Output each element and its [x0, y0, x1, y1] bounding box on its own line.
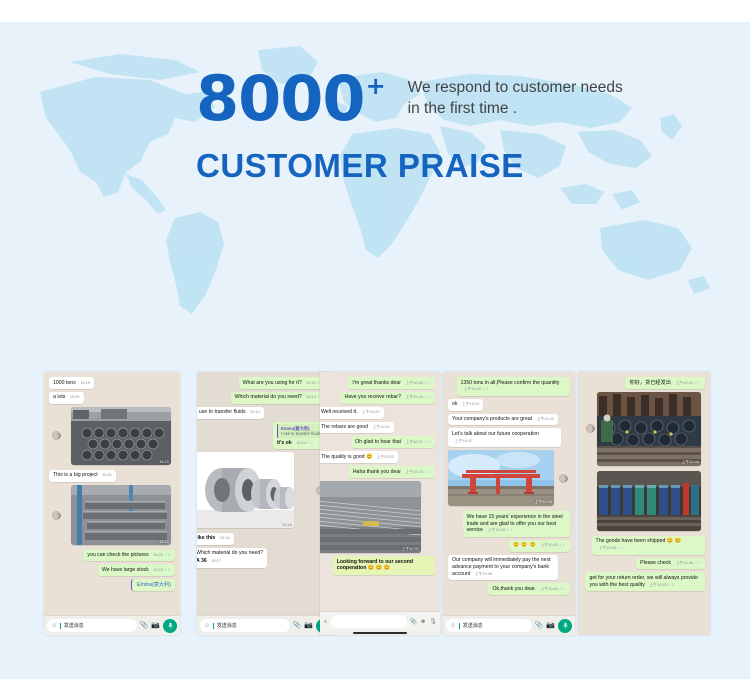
- paperclip-icon[interactable]: 📎: [293, 622, 302, 629]
- chat-panel-1: 1000 tons 15:19 a lots 15:20: [44, 372, 180, 635]
- chat-thread-5: 你好，货已经发出 上午10:41✓✓: [578, 372, 710, 635]
- message-text: We have large stock: [102, 567, 149, 573]
- message-text: What are you using for it?: [243, 380, 302, 386]
- image-message-wrapper: 上午10:44: [583, 392, 705, 468]
- chat-bubble: Ok,thank you dear. 上午10:49✓✓: [488, 583, 570, 595]
- message-text: I use to transfer fluids: [197, 409, 246, 415]
- message-input-bar[interactable]: ☺ 发送消息 📎 📷: [44, 615, 180, 635]
- chat-bubble: We have large stock 15:23✓✓: [98, 564, 175, 576]
- read-receipt-icon: ✓✓: [617, 545, 624, 550]
- chat-bubble: The quality is good 😊 上午10:22: [320, 451, 398, 463]
- message-input-field[interactable]: ☺ 发送消息: [446, 619, 532, 632]
- image-timestamp: 上午10:37: [401, 546, 419, 552]
- message-text: like this: [197, 535, 215, 541]
- paperclip-icon[interactable]: 📎: [140, 622, 149, 629]
- message-time: 15:12: [306, 380, 316, 385]
- message-text: The rebars are good: [321, 424, 368, 430]
- message-row: you can check the pictures 15:21✓✓: [49, 550, 175, 565]
- message-row: This is a big project 15:21: [49, 470, 175, 485]
- message-row: Which material do you need? A 36 15:17: [202, 548, 328, 571]
- message-text: you can check the pictures: [87, 552, 148, 558]
- rebar-bundle-photo: [320, 481, 421, 553]
- message-row: 😊 😊 😊 上午10:43✓✓: [448, 540, 570, 555]
- message-time: 上午10:49: [540, 586, 558, 591]
- read-receipt-icon: ✓✓: [164, 552, 171, 557]
- message-text: We have 15 years' experience in the stee…: [467, 514, 563, 534]
- message-time: 上午10:42: [537, 416, 555, 421]
- paperclip-icon[interactable]: 📎: [410, 619, 417, 625]
- text-caret: [459, 623, 460, 629]
- image-message-wrapper: 15:16: [202, 452, 328, 530]
- camera-icon[interactable]: 📷: [151, 622, 160, 629]
- message-text: Ok,thank you dear.: [492, 586, 536, 592]
- home-indicator: [320, 631, 440, 635]
- chat-bubble: you can check the pictures 15:21✓✓: [83, 550, 175, 562]
- message-time: 上午10:20: [362, 409, 380, 414]
- read-receipt-icon: ✓✓: [559, 542, 566, 547]
- read-receipt-icon: ✓✓: [424, 394, 431, 399]
- message-text: Oh glad to hear that: [355, 439, 401, 445]
- message-row: 1350 tons in all,Please confirm the quan…: [448, 377, 570, 399]
- message-row: Our company will immediately pay the nex…: [448, 555, 570, 584]
- forward-avatar-icon: [586, 424, 595, 433]
- message-row: I'm great thanks dear 上午10:18✓✓: [325, 377, 435, 392]
- message-row: get for your return order, we will alway…: [583, 572, 705, 594]
- image-message[interactable]: 上午10:43: [448, 450, 554, 506]
- chat-bubble: The goods have been shipped 😊 😊 上午10:46✓…: [592, 536, 705, 555]
- image-message[interactable]: 15:16: [197, 452, 294, 528]
- message-input-bar[interactable]: ☺ 发送消息 📎 📷: [443, 615, 575, 635]
- message-text: get for your return order, we will alway…: [589, 575, 697, 588]
- chat-bubble: What are you using for it? 15:12✓✓: [239, 377, 328, 389]
- emoji-icon[interactable]: ☺: [450, 623, 456, 629]
- chat-bubble: Please check 上午10:46✓✓: [636, 558, 705, 570]
- chat-panel-5: 你好，货已经发出 上午10:41✓✓: [578, 372, 710, 635]
- message-row: We have 15 years' experience in the stee…: [448, 511, 570, 540]
- message-text: I'm great thanks dear: [352, 380, 401, 386]
- message-text: Your company's products are great: [452, 416, 532, 422]
- text-caret: [60, 623, 61, 629]
- image-message-wrapper: 上午10:43: [448, 450, 570, 508]
- read-receipt-icon: ✓✓: [164, 567, 171, 572]
- chat-bubble: Oh glad to hear that 上午10:21✓✓: [351, 436, 435, 448]
- hero-headline-row: 8000 + We respond to customer needs in t…: [196, 70, 716, 129]
- message-time: 15:17: [211, 558, 221, 563]
- message-row: I use to transfer fluids 15:14: [202, 407, 328, 422]
- microphone-icon: [562, 622, 569, 629]
- message-row: We have large stock 15:23✓✓: [49, 564, 175, 579]
- coated-pipes-photo: [597, 471, 701, 531]
- chat-bubble: 😊 😊 😊 上午10:43✓✓: [509, 540, 570, 552]
- message-time: 15:16: [220, 535, 230, 540]
- image-message[interactable]: 15:21: [71, 407, 171, 465]
- message-text: Looking forward to our second cooperatio…: [337, 559, 413, 572]
- message-row: ok 上午10:42: [448, 399, 570, 414]
- quoted-reply: Emma(意大利) I use to transfer fluids: [277, 424, 324, 438]
- plus-icon[interactable]: +: [323, 618, 328, 626]
- hero-subtitle: CUSTOMER PRAISE: [196, 147, 716, 185]
- chat-bubble: 1350 tons in all,Please confirm the quan…: [457, 377, 570, 396]
- message-text: Which material do you need?: [235, 394, 302, 400]
- hero-content: 8000 + We respond to customer needs in t…: [196, 70, 716, 185]
- message-row: Well received it. 上午10:20: [325, 407, 435, 422]
- microphone-icon: [167, 622, 174, 629]
- message-time: 上午10:22: [377, 454, 395, 459]
- message-row: Have you receive rebar? 上午10:18✓✓: [325, 392, 435, 407]
- message-text: Have you receive rebar?: [344, 394, 401, 400]
- read-receipt-icon: ✓✓: [424, 380, 431, 385]
- chat-bubble: I'm great thanks dear 上午10:18✓✓: [348, 377, 435, 389]
- quoted-message-text: I use to transfer fluids: [281, 431, 321, 436]
- message-text: A 36: [197, 558, 207, 564]
- input-placeholder-text: 发送消息: [463, 622, 483, 629]
- message-row: What are you using for it? 15:12✓✓: [202, 377, 328, 392]
- message-text: Emma(意大利): [137, 582, 171, 588]
- sticker-icon[interactable]: ☻: [420, 619, 426, 625]
- chat-bubble: We have 15 years' experience in the stee…: [463, 511, 570, 537]
- message-text: 😊 😊 😊: [513, 542, 536, 548]
- message-row: Please check 上午10:46✓✓: [583, 558, 705, 573]
- message-time: 上午10:46: [675, 560, 693, 565]
- image-message-wrapper: [583, 471, 705, 533]
- message-time: 上午10:52: [649, 582, 667, 587]
- chat-panel-3: I'm great thanks dear 上午10:18✓✓ Have you…: [320, 372, 440, 635]
- image-timestamp: 上午10:44: [681, 459, 699, 465]
- message-time: 上午10:48: [475, 571, 493, 576]
- steel-pipe-photo: [71, 407, 171, 465]
- chat-screenshot-strip: 1000 tons 15:19 a lots 15:20: [0, 340, 750, 679]
- chat-panel-2: What are you using for it? 15:12✓✓ Which…: [197, 372, 333, 635]
- chat-bubble: 你好，货已经发出 上午10:41✓✓: [625, 377, 705, 389]
- message-row: Your company's products are great 上午10:4…: [448, 414, 570, 429]
- chat-bubble: Which material do you need? A 36 15:17: [197, 548, 267, 568]
- message-row: Emma(意大利): [49, 579, 175, 594]
- hero-banner: 8000 + We respond to customer needs in t…: [0, 22, 750, 340]
- image-message[interactable]: 上午10:37: [320, 481, 421, 553]
- read-receipt-icon: ✓✓: [694, 560, 701, 565]
- image-timestamp: 15:21: [159, 539, 169, 544]
- message-time: 15:19: [80, 380, 90, 385]
- chat-bubble: ok 上午10:42: [448, 399, 483, 411]
- input-placeholder-text: 发送消息: [217, 622, 237, 629]
- chat-bubble: Let's talk about our future cooperation …: [448, 428, 561, 447]
- message-time: 上午10:42: [455, 438, 473, 443]
- image-timestamp: 上午10:43: [534, 499, 552, 505]
- microphone-icon[interactable]: 🎙: [429, 619, 437, 625]
- message-input-field[interactable]: [331, 615, 407, 628]
- image-message[interactable]: 上午10:44: [597, 392, 701, 466]
- message-row: Emma(意大利) I use to transfer fluids it's …: [202, 422, 328, 452]
- message-row: 1000 tons 15:19: [49, 377, 175, 392]
- image-message-wrapper: 15:21: [49, 485, 175, 547]
- read-receipt-icon: ✓✓: [668, 582, 675, 587]
- gantry-crane-photo: [448, 450, 554, 506]
- message-text: 1350 tons in all,Please confirm the quan…: [461, 380, 560, 386]
- message-time: 上午10:43: [540, 542, 558, 547]
- microphone-button[interactable]: [558, 619, 572, 633]
- message-time: 15:20: [70, 394, 80, 399]
- message-input-field[interactable]: ☺ 发送消息: [200, 619, 290, 632]
- message-text: The goods have been shipped 😊 😊: [596, 538, 682, 544]
- forward-avatar-icon: [559, 474, 568, 483]
- chat-bubble: Emma(意大利): [131, 579, 175, 591]
- camera-icon[interactable]: 📷: [546, 622, 555, 629]
- chat-thread-3: I'm great thanks dear 上午10:18✓✓ Have you…: [320, 372, 440, 611]
- message-time: 上午10:41: [675, 380, 693, 385]
- emoji-icon[interactable]: ☺: [51, 623, 57, 629]
- image-timestamp: 15:16: [282, 522, 292, 527]
- message-row: a lots 15:20: [49, 392, 175, 407]
- message-text: Our company will immediately pay the nex…: [452, 557, 551, 577]
- message-text: Haha thank you dear: [353, 469, 401, 475]
- chat-bubble: Looking forward to our second cooperatio…: [333, 556, 435, 575]
- message-row: The quality is good 😊 上午10:22: [325, 451, 435, 466]
- message-text: Please check: [640, 560, 671, 566]
- message-text: Which material do you need?: [197, 550, 263, 556]
- chat-bubble: This is a big project 15:21: [49, 470, 116, 482]
- message-time: 15:13: [306, 394, 316, 399]
- read-receipt-icon: ✓✓: [559, 586, 566, 591]
- text-caret: [213, 623, 214, 629]
- message-time: 上午10:21: [405, 439, 423, 444]
- read-receipt-icon: ✓✓: [424, 469, 431, 474]
- forward-avatar-icon: [52, 431, 61, 440]
- chat-bubble: Haha thank you dear 上午10:23✓✓: [349, 466, 435, 478]
- message-time: 上午10:18: [405, 394, 423, 399]
- emoji-icon[interactable]: ☺: [204, 623, 210, 629]
- read-receipt-icon: ✓✓: [307, 440, 314, 445]
- chat-bubble: Your company's products are great 上午10:4…: [448, 414, 558, 426]
- message-time: 15:14: [296, 440, 306, 445]
- chat-bubble: like this 15:16: [197, 533, 234, 545]
- plus-sign: +: [366, 72, 386, 100]
- message-row: Let's talk about our future cooperation …: [448, 428, 570, 450]
- image-message[interactable]: [597, 471, 701, 531]
- message-time: 15:21: [102, 472, 112, 477]
- message-row: Which material do you need? 15:13✓✓: [202, 392, 328, 407]
- message-time: 上午10:18: [405, 380, 423, 385]
- chat-thread-4: 1350 tons in all,Please confirm the quan…: [443, 372, 575, 615]
- message-input-bar[interactable]: ☺ 发送消息 📎 📷: [197, 615, 333, 635]
- message-row: Oh glad to hear that 上午10:21✓✓: [325, 436, 435, 451]
- message-time: 15:14: [250, 409, 260, 414]
- chat-thread-2: What are you using for it? 15:12✓✓ Which…: [197, 372, 333, 615]
- message-time: 上午10:42: [462, 401, 480, 406]
- message-time: 15:23: [153, 567, 163, 572]
- forward-avatar-icon: [52, 511, 61, 520]
- message-text: The quality is good 😊: [321, 454, 372, 460]
- message-row: The rebars are good 上午10:21: [325, 422, 435, 437]
- message-time: 15:21: [153, 552, 163, 557]
- chat-bubble: Which material do you need? 15:13✓✓: [231, 392, 328, 404]
- steel-coil-photo: [197, 452, 294, 528]
- message-text: 你好，货已经发出: [629, 380, 671, 386]
- message-row: Ok,thank you dear. 上午10:49✓✓: [448, 583, 570, 598]
- message-text: Well received it.: [321, 409, 358, 415]
- message-input-field[interactable]: ☺ 发送消息: [47, 619, 137, 632]
- message-input-bar[interactable]: + 📎 ☻ 🎙: [320, 611, 440, 631]
- chat-bubble: get for your return order, we will alway…: [585, 572, 705, 591]
- message-text: ok: [452, 401, 457, 407]
- chat-thread-1: 1000 tons 15:19 a lots 15:20: [44, 372, 180, 615]
- chat-bubble: Well received it. 上午10:20: [320, 407, 384, 419]
- read-receipt-icon: ✓✓: [506, 527, 513, 532]
- chat-bubble: a lots 15:20: [49, 392, 84, 404]
- chat-bubble: I use to transfer fluids 15:14: [197, 407, 264, 419]
- image-message-wrapper: 15:21: [49, 407, 175, 467]
- paperclip-icon[interactable]: 📎: [535, 622, 544, 629]
- chat-panel-4: 1350 tons in all,Please confirm the quan…: [443, 372, 575, 635]
- message-time: 上午10:43: [488, 527, 506, 532]
- microphone-button[interactable]: [163, 619, 177, 633]
- message-row: like this 15:16: [202, 533, 328, 548]
- read-receipt-icon: ✓✓: [424, 439, 431, 444]
- message-row: The goods have been shipped 😊 😊 上午10:46✓…: [583, 536, 705, 558]
- message-text: it's ok: [277, 440, 292, 446]
- input-placeholder-text: 发送消息: [64, 622, 84, 629]
- chat-bubble: The rebars are good 上午10:21: [320, 422, 394, 434]
- message-time: 上午10:23: [405, 469, 423, 474]
- message-time: 上午10:46: [599, 545, 617, 550]
- message-row: Looking forward to our second cooperatio…: [325, 556, 435, 578]
- message-time: 上午10:42: [464, 386, 482, 391]
- factory-loading-photo: [597, 392, 701, 466]
- hero-tagline: We respond to customer needs in the firs…: [408, 78, 633, 120]
- chat-bubble: Have you receive rebar? 上午10:18✓✓: [340, 392, 435, 404]
- message-row: Haha thank you dear 上午10:23✓✓: [325, 466, 435, 481]
- warehouse-pipes-photo: [71, 485, 171, 545]
- image-message[interactable]: 15:21: [71, 485, 171, 545]
- camera-icon[interactable]: 📷: [304, 622, 313, 629]
- chat-bubble: Our company will immediately pay the nex…: [448, 555, 558, 581]
- image-timestamp: 15:21: [159, 459, 169, 464]
- message-text: 1000 tons: [53, 380, 76, 386]
- message-text: This is a big project: [53, 472, 98, 478]
- message-text: a lots: [53, 394, 65, 400]
- customer-count: 8000: [196, 70, 365, 129]
- message-time: 上午10:21: [372, 424, 390, 429]
- chat-bubble: 1000 tons 15:19: [49, 377, 94, 389]
- read-receipt-icon: ✓✓: [694, 380, 701, 385]
- read-receipt-icon: ✓✓: [482, 386, 489, 391]
- message-row: 你好，货已经发出 上午10:41✓✓: [583, 377, 705, 392]
- message-text: Let's talk about our future cooperation: [452, 431, 539, 437]
